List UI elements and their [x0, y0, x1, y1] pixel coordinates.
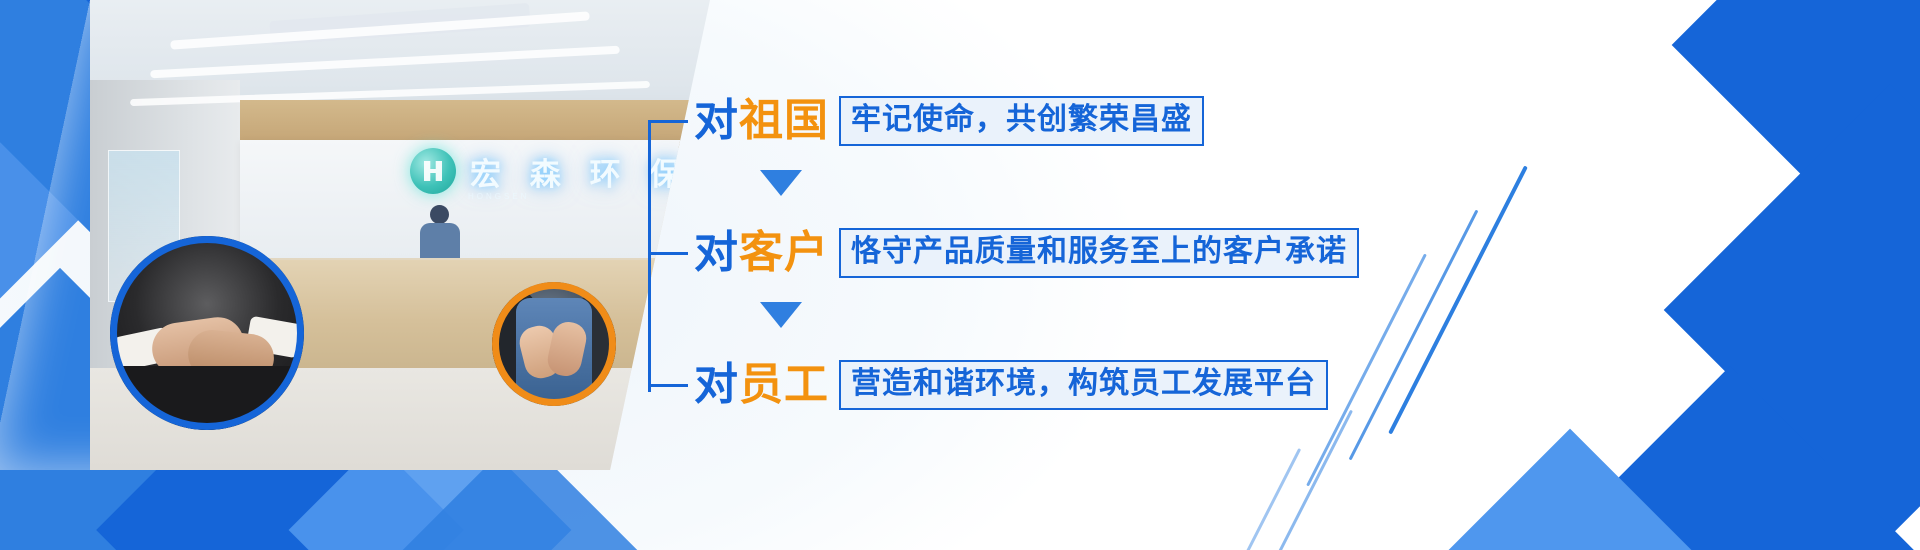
brand-sign-subtext: HONGSEN — [468, 192, 529, 201]
value-row-country: 对祖国 牢记使命，共创繁荣昌盛 — [648, 96, 1204, 146]
applause-photo-bubble — [492, 282, 616, 406]
value-row-employee: 对员工 营造和谐环境，构筑员工发展平台 — [648, 360, 1328, 410]
value-keyword-employee: 员工 — [739, 359, 829, 410]
handshake-photo-bubble — [110, 236, 304, 430]
value-prefix-customer: 对 — [694, 227, 739, 278]
values-list: 对祖国 牢记使命，共创繁荣昌盛 对客户 恪守产品质量和服务至上的客户承诺 对员工… — [648, 78, 1548, 398]
value-prefix-country: 对 — [694, 95, 739, 146]
triangle-down-icon-1 — [760, 170, 802, 196]
bracket-tick-2 — [648, 252, 688, 255]
value-keyword-country: 祖国 — [739, 95, 829, 146]
value-heading-customer: 对客户 — [694, 231, 829, 275]
value-row-customer: 对客户 恪守产品质量和服务至上的客户承诺 — [648, 228, 1359, 278]
globe-leaf-mark-icon — [410, 148, 456, 194]
photo-ceiling-light-2 — [150, 46, 620, 79]
value-heading-employee: 对员工 — [694, 363, 829, 407]
value-heading-country: 对祖国 — [694, 99, 829, 143]
value-keyword-customer: 客户 — [739, 227, 829, 278]
value-statement-country: 牢记使命，共创繁荣昌盛 — [839, 96, 1204, 146]
bracket-tick-3 — [648, 384, 688, 387]
company-values-banner: 宏 森 环 保 HONGSEN 对祖国 牢记使命，共创繁荣昌盛 — [0, 0, 1920, 550]
triangle-down-icon-2 — [760, 302, 802, 328]
value-statement-customer: 恪守产品质量和服务至上的客户承诺 — [839, 228, 1359, 278]
value-statement-employee: 营造和谐环境，构筑员工发展平台 — [839, 360, 1328, 410]
value-prefix-employee: 对 — [694, 359, 739, 410]
bracket-tick-1 — [648, 120, 688, 123]
